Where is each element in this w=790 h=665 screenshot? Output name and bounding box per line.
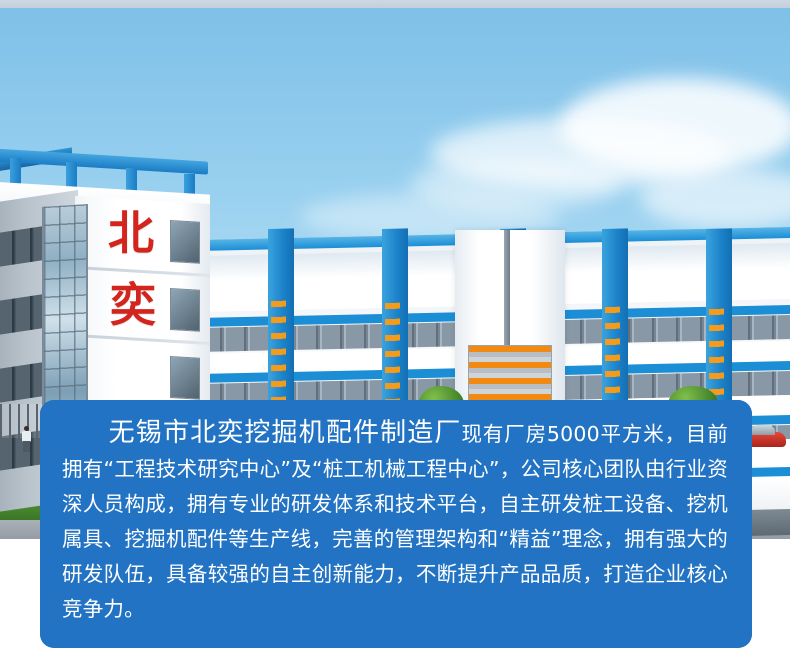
office-window — [170, 288, 200, 332]
company-intro-panel: 无锡市北奕挖掘机配件制造厂现有厂房5000平方米，目前拥有“工程技术研究中心”及… — [40, 400, 752, 648]
page-root: 北 奕 无锡市北奕挖掘机配件制造厂现有厂房5000平方米，目前拥有“工程技术研究… — [0, 0, 790, 665]
pedestrian — [22, 426, 31, 452]
company-name: 无锡市北奕挖掘机配件制造厂 — [108, 418, 462, 448]
roof-pergola-slab — [0, 148, 208, 175]
company-description: 现有厂房5000平方米，目前拥有“工程技术研究中心”及“桩工机械工程中心”，公司… — [62, 422, 728, 621]
office-window — [170, 220, 200, 264]
tower-seam — [504, 230, 510, 350]
office-window — [170, 356, 200, 400]
building-sign-char-2: 奕 — [110, 282, 156, 328]
top-gray-strip — [0, 0, 790, 8]
person-legs — [23, 441, 30, 452]
company-intro-paragraph: 无锡市北奕挖掘机配件制造厂现有厂房5000平方米，目前拥有“工程技术研究中心”及… — [62, 416, 728, 627]
building-sign-char-1: 北 — [108, 210, 154, 256]
panel-text-wrapper: 无锡市北奕挖掘机配件制造厂现有厂房5000平方米，目前拥有“工程技术研究中心”及… — [40, 400, 752, 648]
